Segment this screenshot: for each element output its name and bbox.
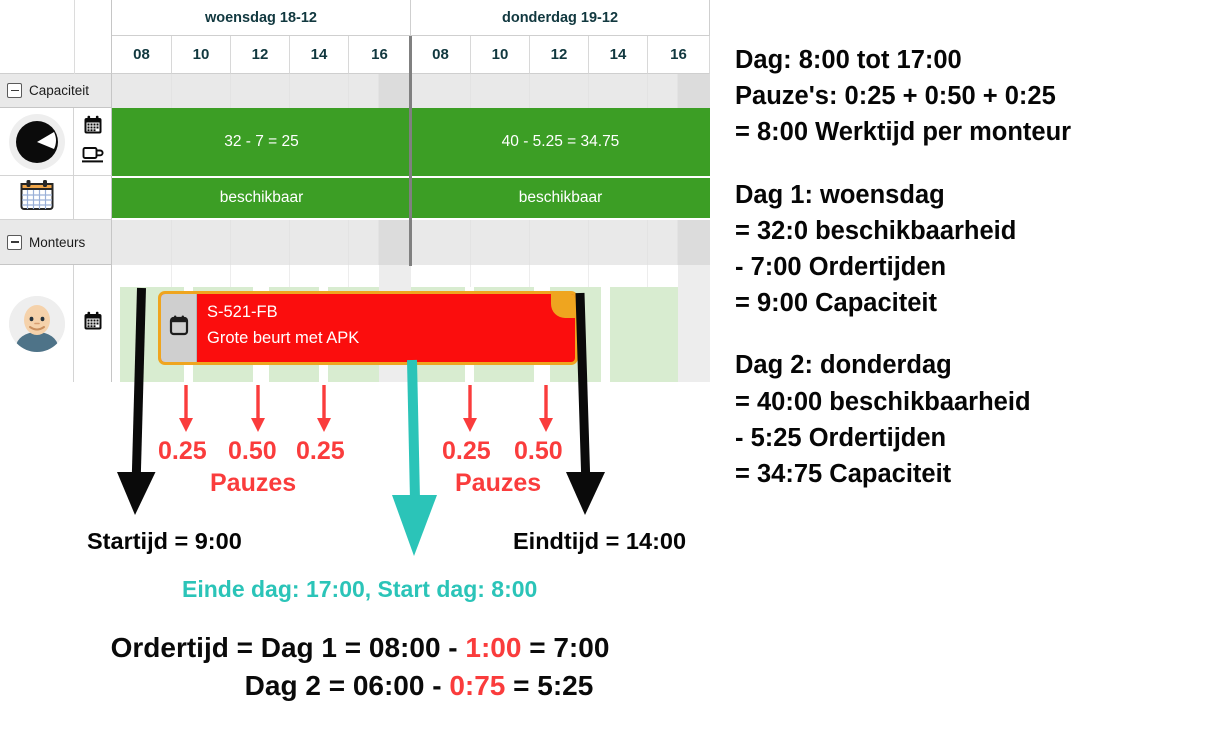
start-time-label: Startijd = 9:00 <box>87 528 242 555</box>
order-drag-handle[interactable] <box>161 294 197 362</box>
pauzes-label-day1: Pauzes <box>210 469 296 498</box>
info-panel: Dag: 8:00 tot 17:00 Pauze's: 0:25 + 0:50… <box>735 42 1205 492</box>
group-header-capaciteit[interactable]: Capaciteit <box>0 74 112 108</box>
coffee-cup-icon[interactable] <box>82 145 104 169</box>
day-boundary-arrow <box>392 360 437 556</box>
pause-arrow-d1-2 <box>251 385 265 432</box>
pause-arrow-d2-1 <box>463 385 477 432</box>
formula-line1-break: 1:00 <box>465 632 521 663</box>
hour-header-d2-12[interactable]: 12 <box>530 36 589 74</box>
hour-label: 14 <box>610 46 627 63</box>
formula-line1-suffix: = 7:00 <box>521 632 609 663</box>
minus-collapse-icon[interactable] <box>7 83 22 98</box>
info-spacer <box>735 151 1205 177</box>
availability-bar-wednesday[interactable]: beschikbaar <box>112 178 411 218</box>
pause-value-d2-2: 0.50 <box>514 437 563 466</box>
info-line: = 34:75 Capaciteit <box>735 456 1205 492</box>
day-header-thursday[interactable]: donderdag 19-12 <box>411 0 710 36</box>
gantt-corner-blank <box>0 0 112 74</box>
group-header-monteurs[interactable]: Monteurs <box>0 220 112 265</box>
hour-label: 14 <box>311 46 328 63</box>
pauzes-label-day2: Pauzes <box>455 469 541 498</box>
formula-line2-break: 0:75 <box>449 670 505 701</box>
calendar-order-icon <box>169 315 189 341</box>
hour-header-d1-08[interactable]: 08 <box>112 36 172 74</box>
day-boundary-label: Einde dag: 17:00, Start dag: 8:00 <box>182 576 537 603</box>
pause-value-d1-3: 0.25 <box>296 437 345 466</box>
formula-block: Ordertijd = Dag 1 = 08:00 - 1:00 = 7:00 … <box>0 632 720 702</box>
hour-label: 08 <box>432 46 449 63</box>
resource-capacity-avatar[interactable] <box>0 108 74 176</box>
formula-line2-suffix: = 5:25 <box>505 670 593 701</box>
capacity-icon-cell[interactable] <box>74 108 112 176</box>
hour-header-d2-16[interactable]: 16 <box>648 36 710 74</box>
formula-line-1: Ordertijd = Dag 1 = 08:00 - 1:00 = 7:00 <box>0 632 720 664</box>
info-line: Pauze's: 0:25 + 0:50 + 0:25 <box>735 78 1205 114</box>
formula-line-2: Dag 2 = 06:00 - 0:75 = 5:25 <box>0 670 720 702</box>
hour-header-d2-10[interactable]: 10 <box>471 36 530 74</box>
pie-chart-icon <box>9 114 65 170</box>
monteur-icon-cell[interactable] <box>74 265 112 382</box>
hour-header-d1-12[interactable]: 12 <box>231 36 290 74</box>
gantt-scheduler[interactable]: woensdag 18-12 donderdag 19-12 08 10 12 … <box>0 0 710 382</box>
capacity-bar-value: 40 - 5.25 = 34.75 <box>502 133 620 151</box>
availability-status: beschikbaar <box>220 189 304 207</box>
availability-bar-thursday[interactable]: beschikbaar <box>411 178 710 218</box>
day-header-wednesday[interactable]: woensdag 18-12 <box>112 0 411 36</box>
calendar-icon[interactable] <box>83 115 103 140</box>
corner-divider <box>74 0 75 74</box>
capacity-bar-value: 32 - 7 = 25 <box>224 133 299 151</box>
pause-value-d1-2: 0.50 <box>228 437 277 466</box>
order-text: S-521-FB Grote beurt met APK <box>207 300 567 351</box>
hour-header-d1-10[interactable]: 10 <box>172 36 231 74</box>
hour-header-d2-08[interactable]: 08 <box>411 36 471 74</box>
info-spacer <box>735 321 1205 347</box>
hour-header-d2-14[interactable]: 14 <box>589 36 648 74</box>
info-line: = 8:00 Werktijd per monteur <box>735 114 1205 150</box>
pause-arrow-d2-2 <box>539 385 553 432</box>
group-header-label: Capaciteit <box>29 83 89 98</box>
info-line: - 5:25 Ordertijden <box>735 420 1205 456</box>
hour-label: 12 <box>252 46 269 63</box>
formula-line1-prefix: Ordertijd = Dag 1 = 08:00 - <box>111 632 466 663</box>
hour-header-d1-16[interactable]: 16 <box>349 36 411 74</box>
hour-label: 16 <box>371 46 388 63</box>
hour-label: 08 <box>133 46 150 63</box>
pause-arrows <box>179 385 553 432</box>
hour-label: 10 <box>193 46 210 63</box>
calendar-icon[interactable] <box>83 311 103 336</box>
info-line: = 32:0 beschikbaarheid <box>735 213 1205 249</box>
info-line: Dag 2: donderdag <box>735 347 1205 383</box>
calendar-row-icon-cell <box>74 176 112 220</box>
info-line: Dag 1: woensdag <box>735 177 1205 213</box>
resource-calendar-row[interactable] <box>0 176 74 220</box>
break-gap <box>601 287 610 382</box>
avatar-icon <box>9 296 65 352</box>
end-time-label: Eindtijd = 14:00 <box>513 528 686 555</box>
pause-arrow-d1-3 <box>317 385 331 432</box>
info-line: - 7:00 Ordertijden <box>735 249 1205 285</box>
pause-arrow-d1-1 <box>179 385 193 432</box>
day-header-label: woensdag 18-12 <box>205 10 317 26</box>
day-header-label: donderdag 19-12 <box>502 10 618 26</box>
order-code: S-521-FB <box>207 300 567 326</box>
group-header-label: Monteurs <box>29 235 85 250</box>
pause-value-d2-1: 0.25 <box>442 437 491 466</box>
availability-status: beschikbaar <box>519 189 603 207</box>
monteur-avatar-cell[interactable] <box>0 265 74 382</box>
hour-header-d1-14[interactable]: 14 <box>290 36 349 74</box>
pause-value-d1-1: 0.25 <box>158 437 207 466</box>
capacity-bar-wednesday[interactable]: 32 - 7 = 25 <box>112 108 411 176</box>
hour-label: 12 <box>551 46 568 63</box>
hour-label: 10 <box>492 46 509 63</box>
order-bar-s521fb[interactable]: S-521-FB Grote beurt met APK <box>158 291 578 365</box>
hour-label: 16 <box>670 46 687 63</box>
info-line: = 40:00 beschikbaarheid <box>735 384 1205 420</box>
formula-line2-prefix: Dag 2 = 06:00 - <box>245 670 450 701</box>
day-divider-line <box>409 36 412 266</box>
minus-collapse-icon[interactable] <box>7 235 22 250</box>
capacity-bar-thursday[interactable]: 40 - 5.25 = 34.75 <box>411 108 710 176</box>
info-line: = 9:00 Capaciteit <box>735 285 1205 321</box>
info-line: Dag: 8:00 tot 17:00 <box>735 42 1205 78</box>
calendar-color-icon <box>20 179 54 216</box>
order-description: Grote beurt met APK <box>207 326 567 352</box>
